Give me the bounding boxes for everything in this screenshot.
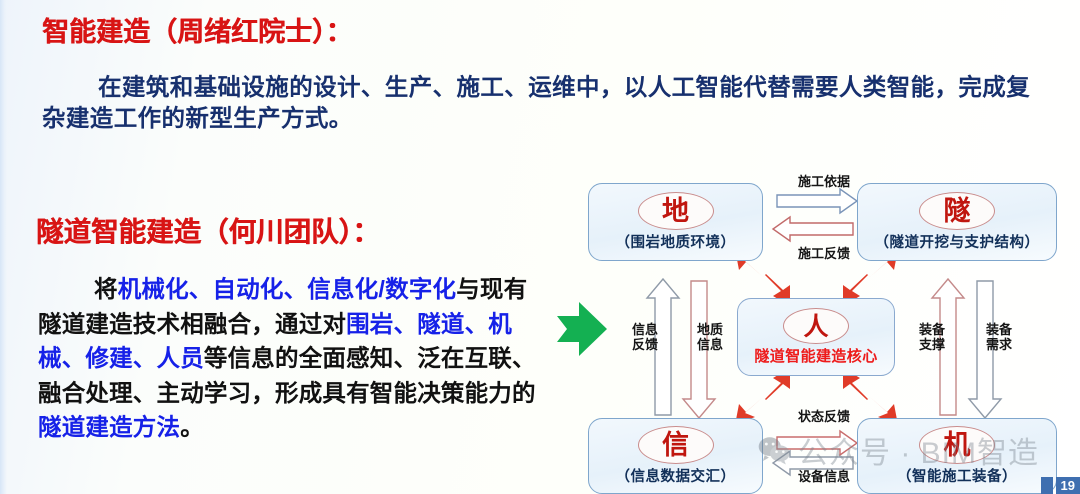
edge-label-zhuangtai-fankui: 状态反馈 <box>775 410 873 425</box>
edge-label-shigong-yiju: 施工依据 <box>775 175 873 190</box>
diagram-node-center-ren[interactable]: 人 隧道智能建造核心 <box>737 298 895 376</box>
section1-heading: 智能建造（周绪红院士）： <box>42 10 353 49</box>
edge-label-zhuangbei-zhicheng: 装备 支撑 <box>908 323 956 352</box>
page-number-badge: 19 <box>1041 477 1080 494</box>
edge-label-xinxi-fankui: 信息 反馈 <box>621 323 669 352</box>
edge-label-shigong-fankui: 施工反馈 <box>775 247 873 262</box>
text-column: 智能建造（周绪红院士）： 在建筑和基础设施的设计、生产、施工、运维中，以人工智能… <box>0 0 575 494</box>
diagram-node-xin[interactable]: 信 （信息数据交汇） <box>588 418 763 494</box>
section1-body: 在建筑和基础设施的设计、生产、施工、运维中，以人工智能代替需要人类智能，完成复杂… <box>42 72 1042 134</box>
highlighted-term: 机械化、自动化、信息化/数字化 <box>118 276 457 302</box>
arrow-shigong-fankui <box>773 217 853 241</box>
diagram-node-ji[interactable]: 机 （智能施工装备） <box>857 418 1057 494</box>
page-badge-bar <box>1041 477 1053 494</box>
node-ji-glyph-ellipse: 机 <box>919 426 995 464</box>
node-sui-glyph-ellipse: 隧 <box>919 192 995 230</box>
node-di-glyph-ellipse: 地 <box>638 192 714 230</box>
edge-label-dizhi-xinxi: 地质 信息 <box>686 323 734 352</box>
tunnel-intelligent-construction-diagram: 地 （围岩地质环境） 隧 （隧道开挖与支护结构） 信 （信息数据交汇） 机 （智… <box>585 165 1065 494</box>
edge-label-zhuangbei-xuqiu: 装备 需求 <box>975 323 1023 352</box>
page-number: 19 <box>1056 477 1080 494</box>
node-xin-glyph: 信 <box>662 432 689 459</box>
highlighted-term: 隧道建造方法 <box>38 414 180 440</box>
node-sui-glyph: 隧 <box>944 198 971 225</box>
slide-canvas: 智能建造（周绪红院士）： 在建筑和基础设施的设计、生产、施工、运维中，以人工智能… <box>0 0 1080 494</box>
node-ji-glyph: 机 <box>944 432 971 459</box>
node-center-glyph-ellipse: 人 <box>783 308 849 344</box>
node-di-sublabel: （围岩地质环境） <box>616 231 736 252</box>
edge-label-shebei-xinxi: 设备信息 <box>775 470 873 485</box>
node-di-glyph: 地 <box>662 198 689 225</box>
node-ji-sublabel: （智能施工装备） <box>897 465 1017 486</box>
body-text-run: 将 <box>94 276 118 302</box>
node-sui-sublabel: （隧道开挖与支护结构） <box>875 231 1040 252</box>
diagram-node-sui[interactable]: 隧 （隧道开挖与支护结构） <box>857 183 1057 261</box>
node-center-glyph: 人 <box>803 314 828 339</box>
section2-heading: 隧道智能建造（何川团队）： <box>36 209 380 249</box>
section2-body: 将机械化、自动化、信息化/数字化与现有隧道建造技术相融合，通过对围岩、隧道、机械… <box>38 272 548 445</box>
node-xin-sublabel: （信息数据交汇） <box>616 465 736 486</box>
node-center-sublabel: 隧道智能建造核心 <box>754 345 877 366</box>
arrow-shigong-yiju <box>777 189 857 213</box>
node-xin-glyph-ellipse: 信 <box>638 426 714 464</box>
body-text-run: 。 <box>180 414 204 440</box>
diagram-node-di[interactable]: 地 （围岩地质环境） <box>588 183 763 261</box>
